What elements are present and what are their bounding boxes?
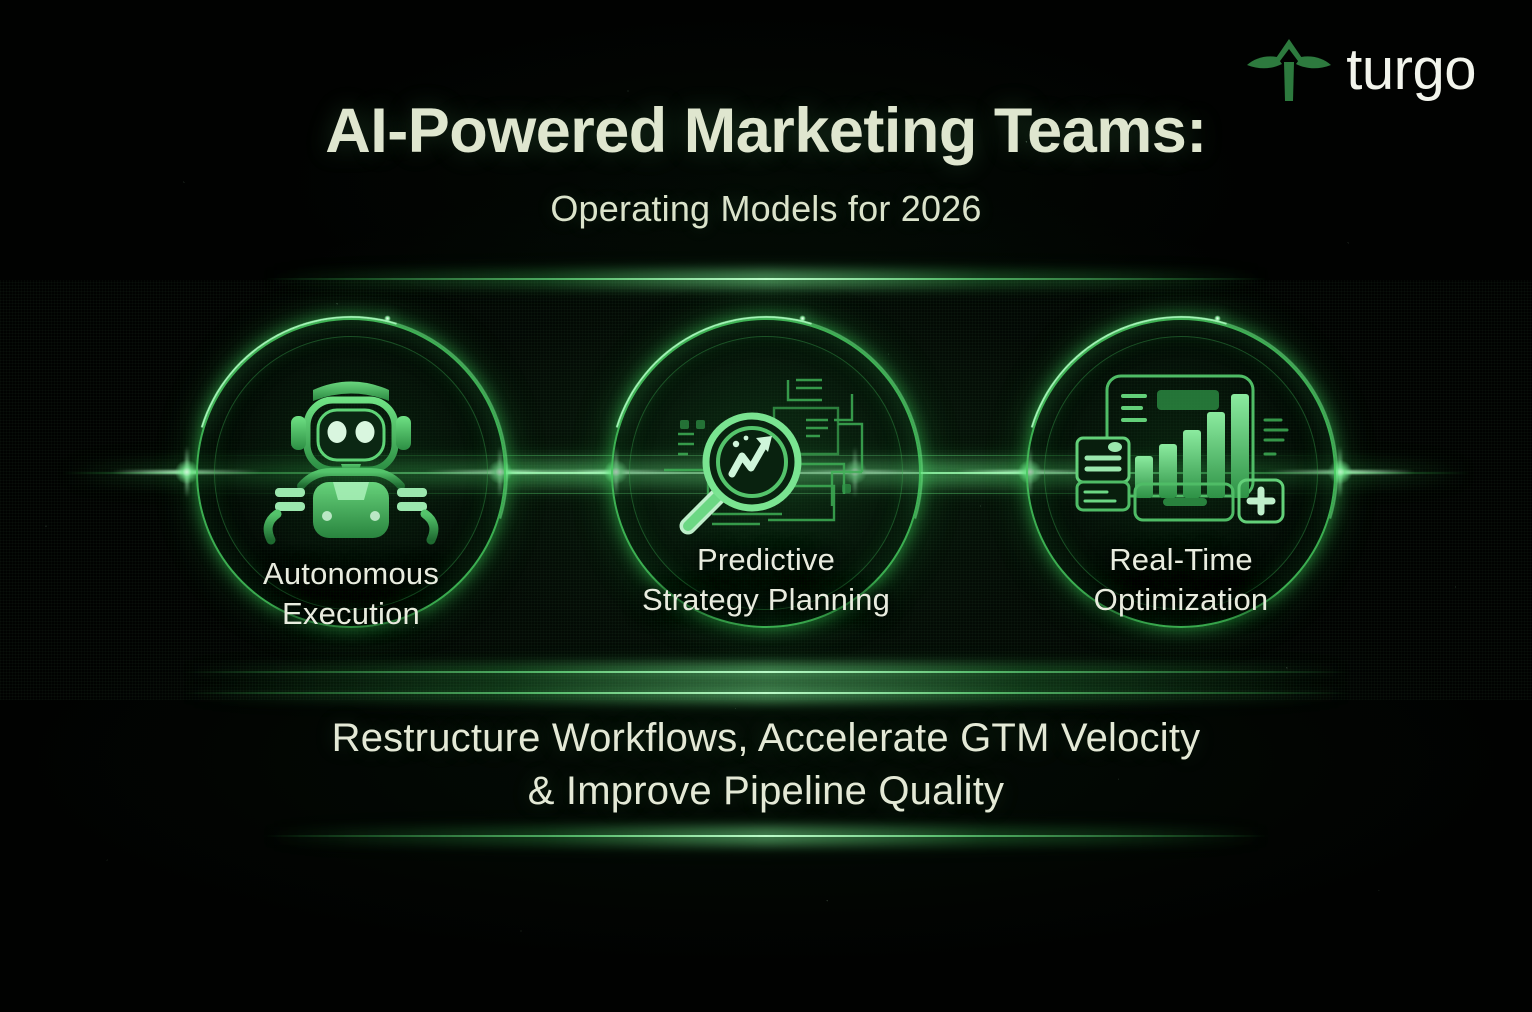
divider-mid-lower	[180, 692, 1352, 694]
robot-icon	[241, 364, 461, 549]
page-title: AI-Powered Marketing Teams:	[0, 95, 1532, 167]
tagline-line1: Restructure Workflows, Accelerate GTM Ve…	[0, 712, 1532, 765]
pillar-real-time-optimization[interactable]: Real-Time Optimization	[1026, 318, 1336, 648]
brand-wordmark: turgo	[1346, 41, 1476, 99]
divider-mid-upper	[180, 671, 1352, 673]
page-subtitle: Operating Models for 2026	[0, 188, 1532, 230]
pillar-label-line1: Autonomous	[196, 554, 506, 594]
magnifying-glass-chart-icon	[656, 364, 876, 549]
dashboard-bar-chart-icon	[1071, 364, 1291, 549]
pillar-predictive-strategy-planning[interactable]: Predictive Strategy Planning	[611, 318, 921, 648]
divider-bottom	[262, 835, 1270, 837]
pillar-label: Autonomous Execution	[196, 554, 506, 633]
tagline-line2: & Improve Pipeline Quality	[0, 765, 1532, 818]
tagline: Restructure Workflows, Accelerate GTM Ve…	[0, 712, 1532, 818]
pillar-label-line1: Predictive	[611, 540, 921, 580]
pillar-autonomous-execution[interactable]: Autonomous Execution	[196, 318, 506, 648]
poster-canvas: turgo AI-Powered Marketing Teams: Operat…	[0, 0, 1532, 1012]
pillar-label-line2: Execution	[196, 594, 506, 634]
pillars-row: Autonomous Execution	[0, 318, 1532, 648]
pillar-label: Predictive Strategy Planning	[611, 540, 921, 619]
pillar-label-line2: Strategy Planning	[611, 580, 921, 620]
divider-top	[262, 278, 1270, 280]
pillar-label-line2: Optimization	[1026, 580, 1336, 620]
pillar-label-line1: Real-Time	[1026, 540, 1336, 580]
pillar-label: Real-Time Optimization	[1026, 540, 1336, 619]
